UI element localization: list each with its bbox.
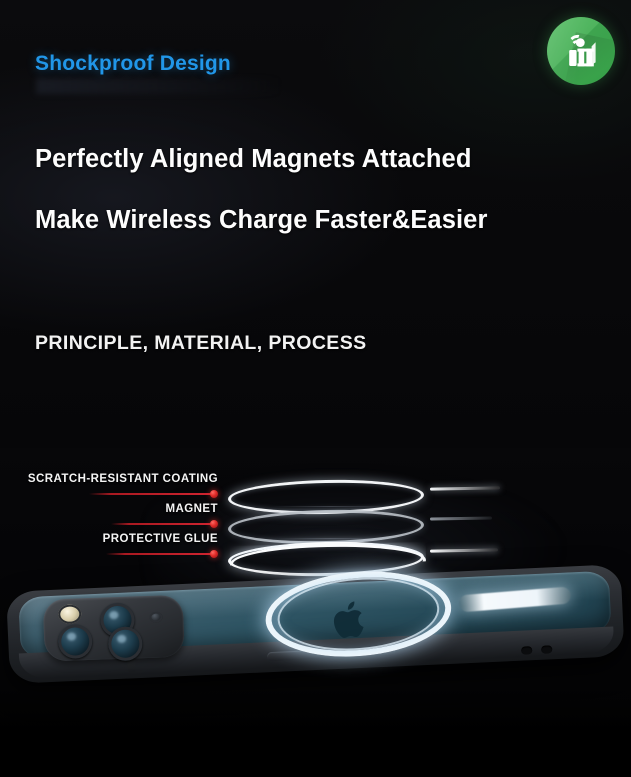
speaker-grille — [541, 645, 552, 653]
callout-scratch-resistant-coating: SCRATCH-RESISTANT COATING — [20, 484, 218, 500]
wireless-charging-logo-icon — [547, 17, 615, 85]
headline-primary: Perfectly Aligned Magnets Attached — [35, 145, 472, 174]
callout-leader-line — [106, 553, 211, 555]
red-dot-marker-icon — [210, 550, 218, 558]
exploded-diagram-stage: SCRATCH-RESISTANT COATING MAGNET PROTECT… — [0, 448, 631, 777]
magsafe-alignment-ring — [262, 565, 454, 664]
callout-label: PROTECTIVE GLUE — [103, 533, 218, 545]
bottom-fade — [0, 686, 631, 777]
red-dot-marker-icon — [210, 490, 218, 498]
camera-module — [43, 595, 185, 662]
product-marketing-page: Shockproof Design Perfectly Align — [0, 0, 631, 777]
callout-protective-glue: PROTECTIVE GLUE — [20, 544, 218, 560]
subheading-text: PRINCIPLE, MATERIAL, PROCESS — [35, 332, 367, 355]
lidar-sensor-icon — [149, 611, 162, 622]
telephoto-lens — [108, 626, 143, 661]
apple-logo-icon — [326, 595, 372, 644]
eyebrow-text: Shockproof Design — [35, 52, 231, 76]
iphone-with-magsafe-case — [6, 564, 625, 692]
callout-leader-line — [111, 523, 211, 525]
headline-secondary: Make Wireless Charge Faster&Easier — [35, 206, 487, 235]
eyebrow-reflection — [36, 78, 281, 94]
callout-leader-line — [89, 493, 211, 495]
brand-badge — [547, 17, 615, 85]
callout-magnet: MAGNET — [20, 514, 218, 530]
red-dot-marker-icon — [210, 520, 218, 528]
layer-connector-strand — [278, 538, 382, 539]
layer-connector-strand — [272, 506, 388, 507]
speaker-grille — [521, 646, 532, 654]
callout-label: MAGNET — [165, 503, 218, 515]
callout-label: SCRATCH-RESISTANT COATING — [28, 473, 218, 485]
camera-flash-icon — [58, 604, 82, 624]
ultrawide-lens — [58, 624, 93, 659]
